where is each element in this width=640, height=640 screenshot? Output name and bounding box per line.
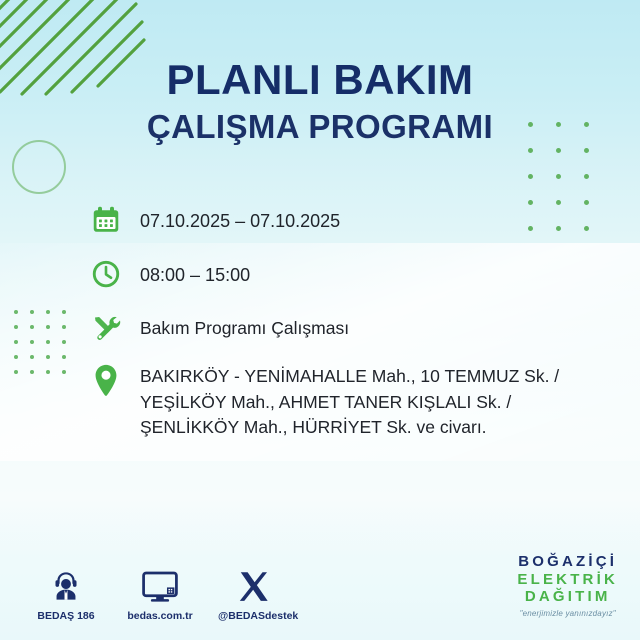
planned-maintenance-poster: PLANLI BAKIM ÇALIŞMA PROGRAMI	[0, 0, 640, 640]
circle-outline-decoration	[12, 140, 66, 194]
maintenance-work-type: Bakım Programı Çalışması	[126, 308, 349, 342]
detail-row-address: BAKIRKÖY - YENİMAHALLE Mah., 10 TEMMUZ S…	[86, 362, 600, 441]
calendar-icon	[86, 200, 126, 240]
detail-row-time: 08:00 – 15:00	[86, 254, 600, 294]
maintenance-details: 07.10.2025 – 07.10.2025 08:00 – 15:00	[86, 200, 600, 441]
maintenance-address: BAKIRKÖY - YENİMAHALLE Mah., 10 TEMMUZ S…	[126, 362, 559, 441]
contact-website-label: bedas.com.tr	[124, 610, 196, 622]
dot-grid-left-decoration	[14, 310, 78, 385]
monitor-icon	[124, 567, 196, 603]
location-pin-icon	[86, 362, 126, 404]
page-title: PLANLI BAKIM	[0, 58, 640, 102]
maintenance-date-range: 07.10.2025 – 07.10.2025	[126, 200, 340, 234]
brand-slogan: "enerjimizle yanınızdayız"	[517, 609, 618, 618]
bedas-brand-logo: BOĞAZİÇİ ELEKTRİK DAĞITIM "enerjimizle y…	[517, 553, 618, 618]
tools-icon	[86, 308, 126, 348]
brand-line-elektrik: ELEKTRİK	[517, 571, 618, 589]
contact-x-label: @BEDASdestek	[218, 610, 290, 622]
contact-call-center-label: BEDAŞ 186	[30, 610, 102, 622]
brand-line-dagitim: DAĞITIM	[517, 588, 618, 606]
clock-icon	[86, 254, 126, 294]
call-center-agent-icon	[30, 567, 102, 603]
detail-row-work-type: Bakım Programı Çalışması	[86, 308, 600, 348]
detail-row-date: 07.10.2025 – 07.10.2025	[86, 200, 600, 240]
contact-x-account[interactable]: @BEDASdestek	[218, 567, 290, 622]
maintenance-time-range: 08:00 – 15:00	[126, 254, 250, 288]
contact-call-center[interactable]: BEDAŞ 186	[30, 567, 102, 622]
brand-line-bogazici: BOĞAZİÇİ	[517, 553, 618, 571]
x-twitter-icon	[218, 567, 290, 603]
contact-website[interactable]: bedas.com.tr	[124, 567, 196, 622]
page-subtitle: ÇALIŞMA PROGRAMI	[0, 108, 640, 146]
footer-contacts: BEDAŞ 186 bedas.com.tr	[30, 567, 290, 622]
poster-header: PLANLI BAKIM ÇALIŞMA PROGRAMI	[0, 58, 640, 146]
